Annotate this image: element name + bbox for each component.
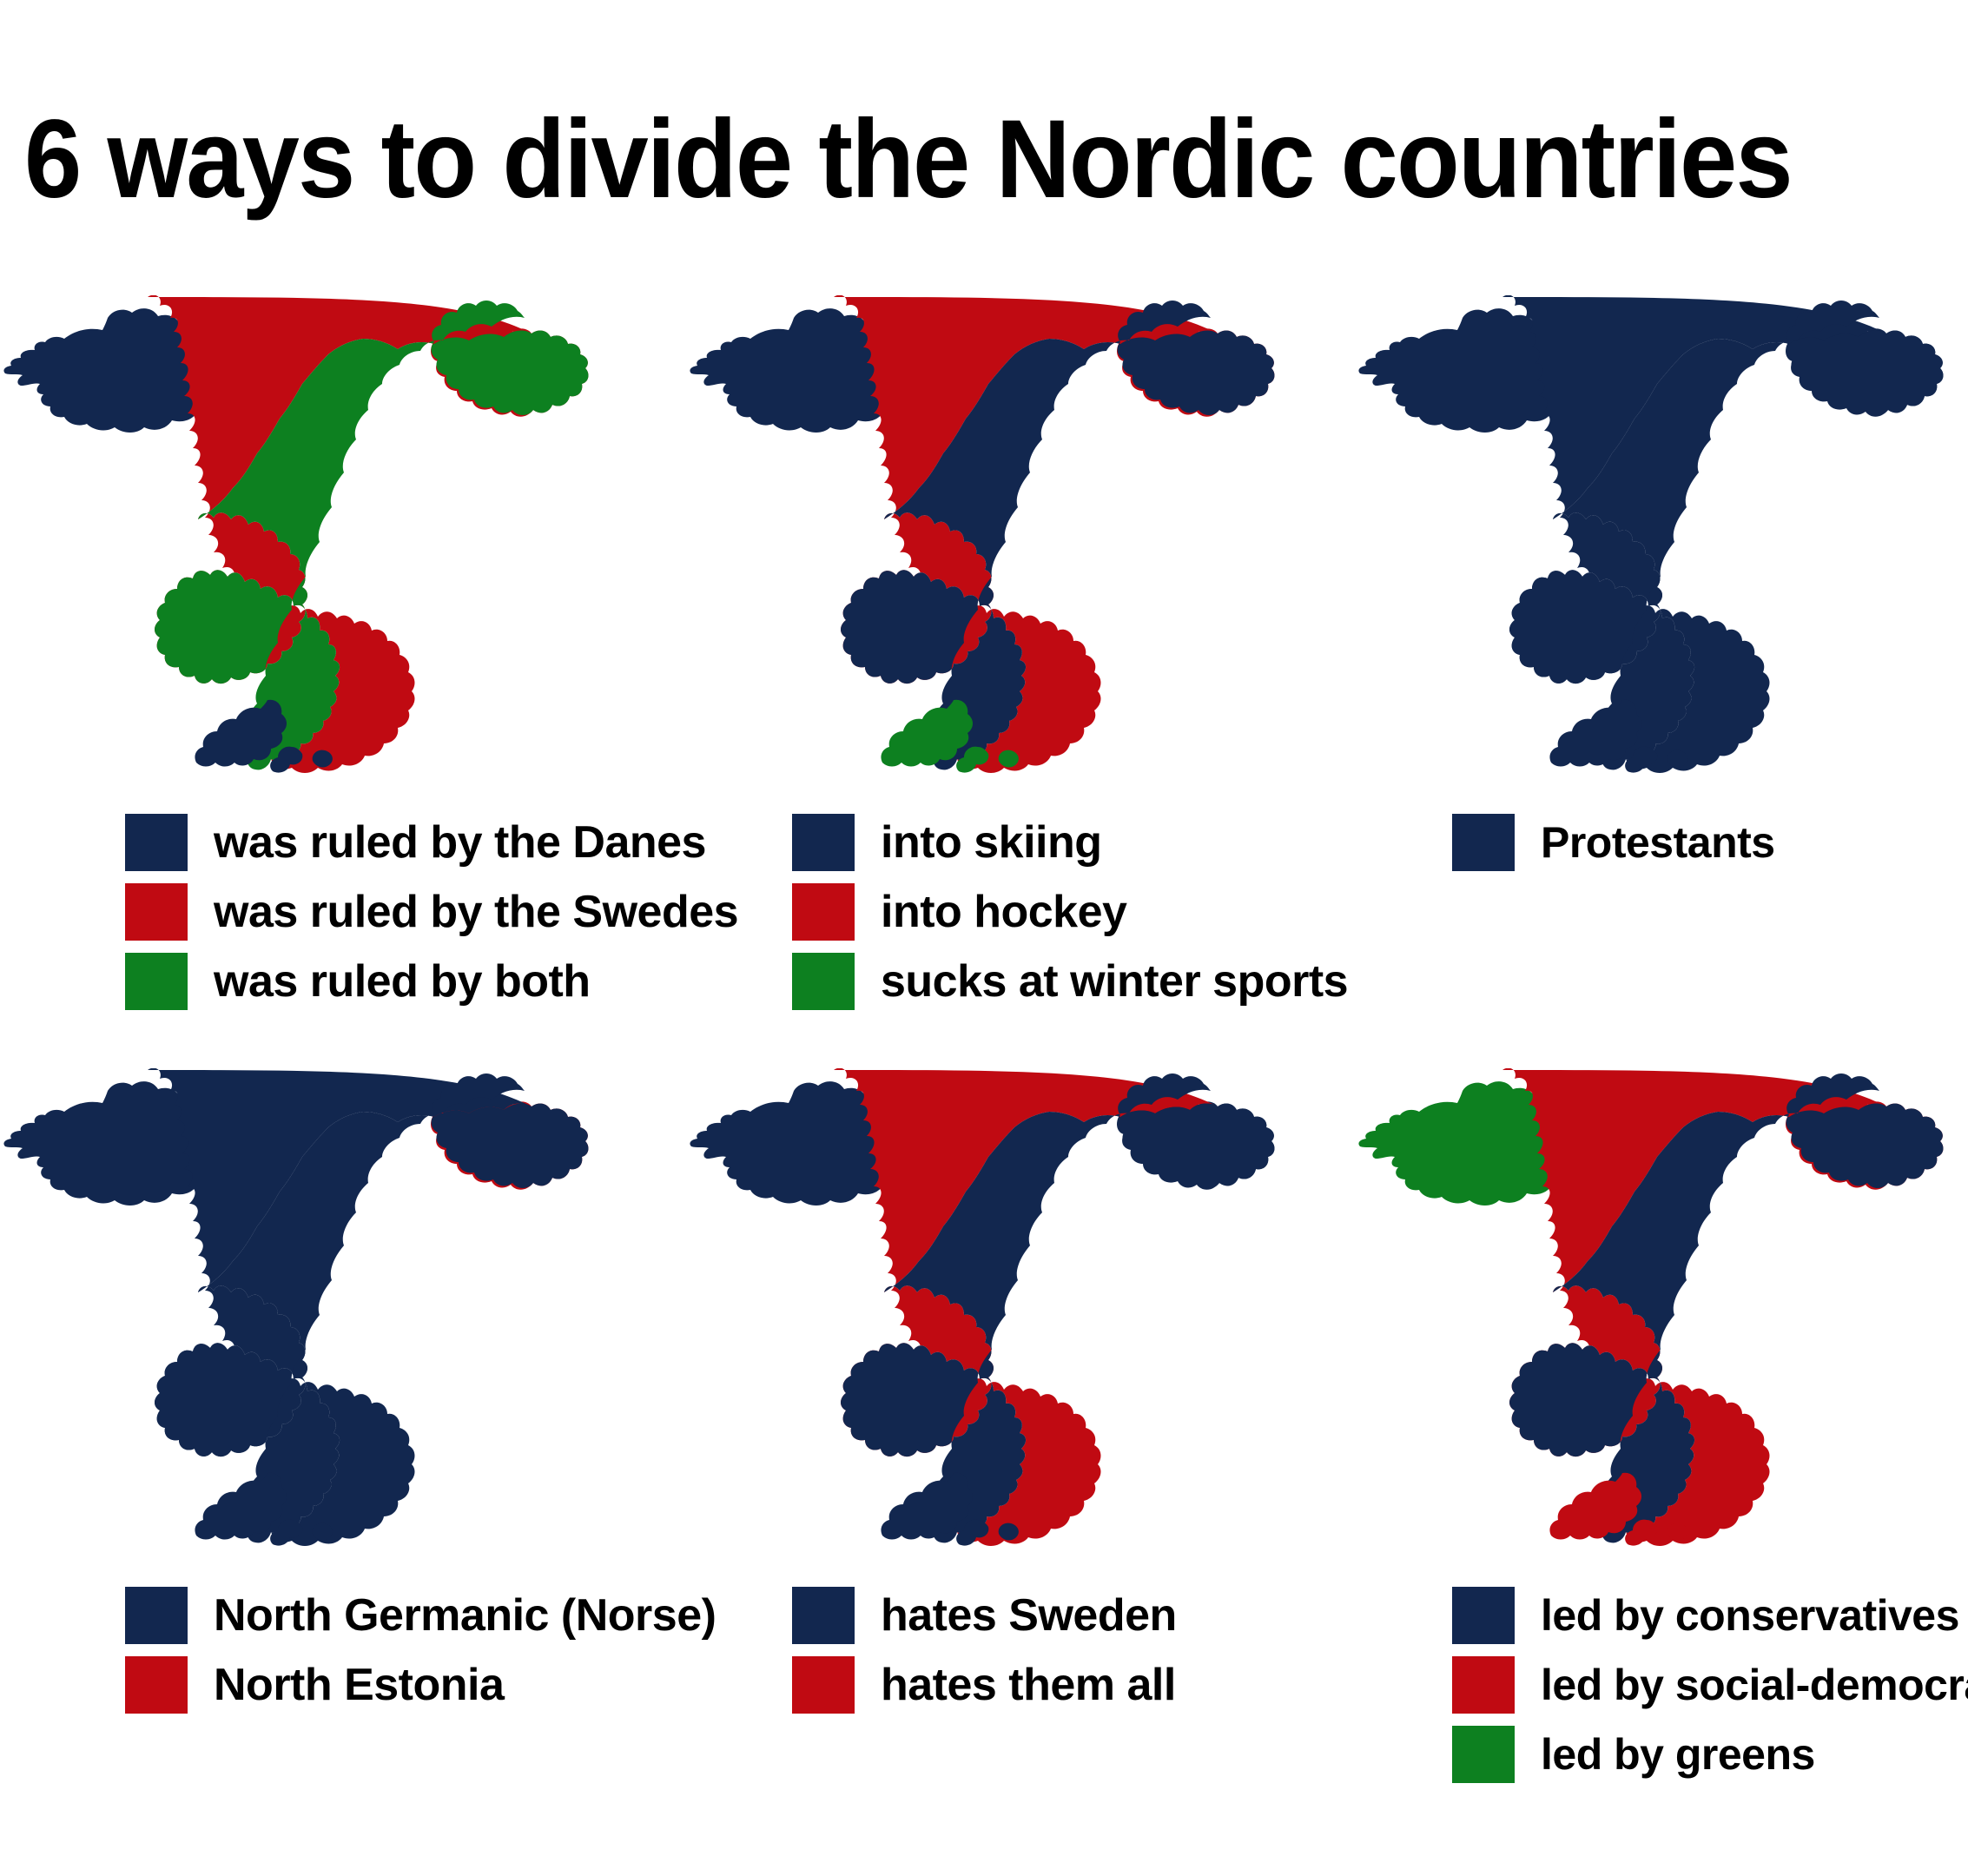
legend-row: was ruled by the Swedes: [125, 877, 655, 947]
legend-row: hates Sweden: [792, 1581, 1322, 1650]
legend-row: led by conservatives: [1452, 1581, 1968, 1650]
panel-ruled-by: was ruled by the Daneswas ruled by the S…: [0, 295, 656, 1068]
legend-swatch: [1452, 1656, 1515, 1714]
legend-label: was ruled by the Danes: [214, 820, 706, 865]
legend: hates Swedenhates them all: [792, 1581, 1322, 1720]
legend-label: into skiing: [881, 820, 1102, 865]
legend-label: hates them all: [881, 1662, 1176, 1708]
legend-swatch: [1452, 1726, 1515, 1783]
nordic-map: [0, 295, 656, 782]
legend-row: North Germanic (Norse): [125, 1581, 655, 1650]
legend: North Germanic (Norse)North Estonia: [125, 1581, 655, 1720]
legend-label: North Estonia: [214, 1662, 504, 1708]
panel-hatred: hates Swedenhates them all: [686, 1068, 1342, 1841]
panel-row-bottom: North Germanic (Norse)North Estonia hate…: [0, 1068, 1968, 1841]
legend: was ruled by the Daneswas ruled by the S…: [125, 808, 655, 1016]
legend-label: led by social-democrats: [1541, 1663, 1968, 1707]
legend: Protestants: [1452, 808, 1968, 877]
nordic-map: [686, 295, 1342, 782]
legend-swatch: [792, 953, 855, 1010]
legend-label: sucks at winter sports: [881, 959, 1348, 1004]
legend-row: Protestants: [1452, 808, 1968, 877]
legend-swatch: [1452, 1587, 1515, 1644]
nordic-map: [1355, 1068, 1968, 1555]
legend-swatch: [125, 953, 188, 1010]
panel-language: North Germanic (Norse)North Estonia: [0, 1068, 656, 1841]
legend-label: into hockey: [881, 889, 1126, 935]
legend-row: hates them all: [792, 1650, 1322, 1720]
panel-row-top: was ruled by the Daneswas ruled by the S…: [0, 295, 1968, 1068]
panel-religion: Protestants: [1355, 295, 1968, 1068]
legend: into skiinginto hockeysucks at winter sp…: [792, 808, 1322, 1016]
legend-row: into skiing: [792, 808, 1322, 877]
legend-row: was ruled by both: [125, 947, 655, 1016]
legend-row: led by greens: [1452, 1720, 1968, 1789]
legend-row: into hockey: [792, 877, 1322, 947]
nordic-map: [0, 1068, 656, 1555]
legend-swatch: [1452, 814, 1515, 871]
legend-swatch: [125, 814, 188, 871]
legend-swatch: [125, 1656, 188, 1714]
panel-grid: was ruled by the Daneswas ruled by the S…: [0, 295, 1968, 1841]
panel-politics: led by conservativesled by social-democr…: [1355, 1068, 1968, 1841]
legend: led by conservativesled by social-democr…: [1452, 1581, 1968, 1789]
legend-swatch: [792, 1656, 855, 1714]
legend-row: sucks at winter sports: [792, 947, 1322, 1016]
legend-swatch: [125, 883, 188, 941]
page-title: 6 ways to divide the Nordic countries: [24, 104, 1809, 215]
legend-swatch: [792, 883, 855, 941]
panel-winter-sports: into skiinginto hockeysucks at winter sp…: [686, 295, 1342, 1068]
legend-label: was ruled by both: [214, 959, 591, 1004]
legend-label: led by conservatives: [1541, 1594, 1959, 1637]
legend-swatch: [792, 1587, 855, 1644]
legend-label: Protestants: [1541, 821, 1775, 864]
nordic-map: [686, 1068, 1342, 1555]
legend-label: hates Sweden: [881, 1593, 1177, 1638]
legend-label: was ruled by the Swedes: [214, 889, 738, 935]
legend-label: led by greens: [1541, 1733, 1815, 1776]
legend-swatch: [125, 1587, 188, 1644]
legend-row: was ruled by the Danes: [125, 808, 655, 877]
legend-swatch: [792, 814, 855, 871]
legend-row: North Estonia: [125, 1650, 655, 1720]
legend-label: North Germanic (Norse): [214, 1593, 716, 1638]
nordic-map: [1355, 295, 1968, 782]
legend-row: led by social-democrats: [1452, 1650, 1968, 1720]
